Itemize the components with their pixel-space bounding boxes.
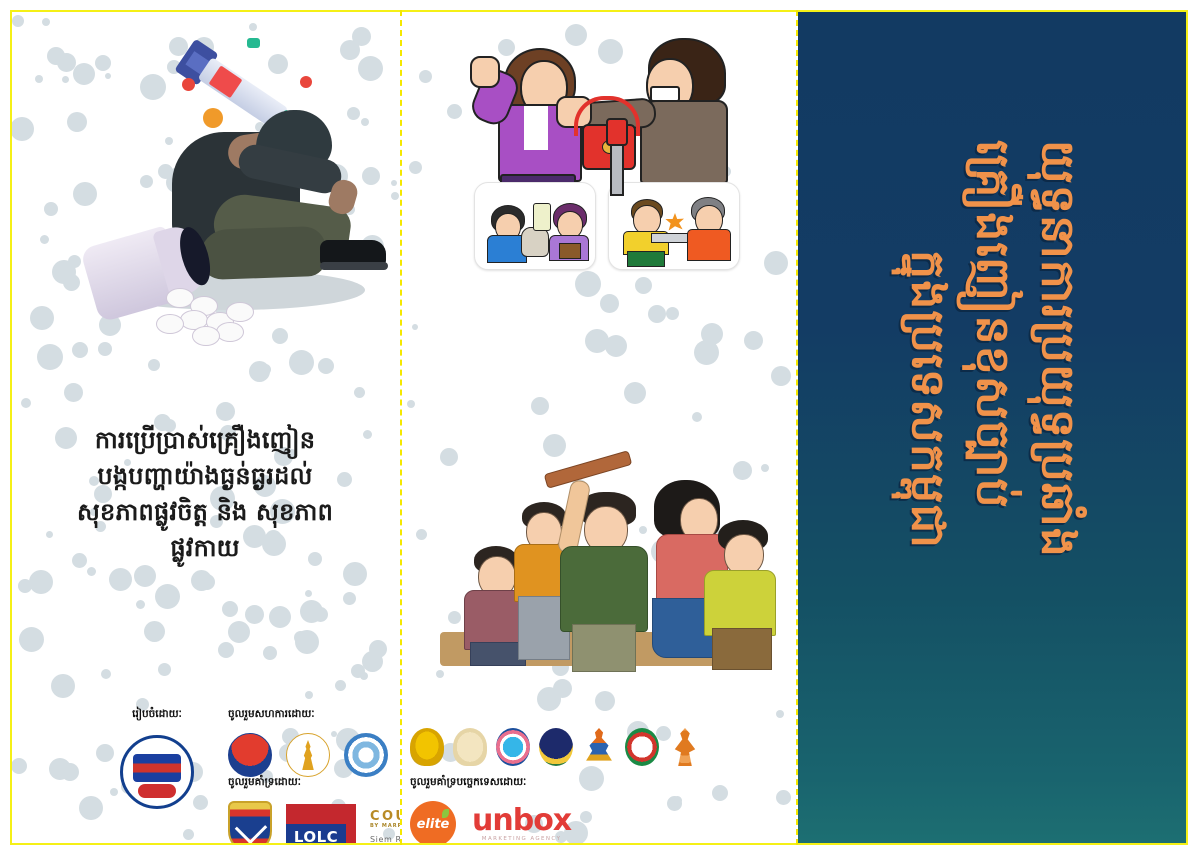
nacd-emblem-logo xyxy=(120,735,194,809)
technical-support-block: ចូលរួមគាំទ្របច្ចេកទេសដោយៈ elite unbox MA… xyxy=(410,776,571,845)
panel-left: ការប្រើប្រាស់គ្រឿងញៀន បង្កបញ្ហាយ៉ាងធ្ងន់… xyxy=(10,10,400,845)
cover-title-line: យុទ្ធនាការប្រយុទ្ធប្រឆាំង xyxy=(1028,140,1087,558)
supported-by-label: ចូលរួមគាំទ្រដោយៈ xyxy=(228,776,400,791)
partner-logo-1 xyxy=(228,733,272,777)
figure-robber xyxy=(622,38,752,198)
ministry-emblem-1 xyxy=(410,728,444,766)
ministry-emblem-row xyxy=(410,728,702,766)
partner-logo-2 xyxy=(286,733,330,777)
headline-line: ផ្លូវកាយ xyxy=(24,530,386,566)
ministry-emblem-3 xyxy=(496,728,530,766)
prepared-by-label: រៀបចំដោយៈ xyxy=(120,708,194,723)
sub-scene-card-assault xyxy=(608,182,740,270)
pill-icon xyxy=(300,76,312,88)
illustration-robbery-scene xyxy=(462,22,752,274)
panel-right-cover: យុទ្ធនាការប្រយុទ្ធប្រឆាំង គ្រឿងញៀនខុសច្ប… xyxy=(798,10,1188,845)
technical-support-label: ចូលរួមគាំទ្របច្ចេកទេសដោយៈ xyxy=(410,776,571,791)
prepared-by-block: រៀបចំដោយៈ xyxy=(120,708,194,809)
courtyard-subtitle: BY MARRIOTT xyxy=(370,824,400,830)
collaboration-block: ចូលរួមសហការដោយៈ xyxy=(228,708,388,777)
sub-scene-card-drug-deal xyxy=(474,182,596,270)
partner-logo-3 xyxy=(344,733,388,777)
knife-icon xyxy=(610,140,624,196)
illustration-youth-violence xyxy=(440,458,770,674)
pill-icon xyxy=(247,38,260,48)
fold-line-1 xyxy=(400,10,402,845)
ministry-emblem-7 xyxy=(668,728,702,766)
cover-title: យុទ្ធនាការប្រយុទ្ធប្រឆាំង គ្រឿងញៀនខុសច្ប… xyxy=(798,10,1188,845)
courtyard-resort-name: Siem Reap Resort xyxy=(370,836,400,845)
supported-by-block: ចូលរួមគាំទ្រដោយៈ COURTYARD BY MARRIOTT S… xyxy=(228,776,400,845)
elite-wordmark: elite xyxy=(417,817,450,832)
headline-line: ការប្រើប្រាស់គ្រឿងញៀន xyxy=(24,422,386,458)
headline-line: សុខភាពផ្លូវចិត្ត និង សុខភាព xyxy=(24,494,386,530)
unbox-tagline: MARKETING AGENCY xyxy=(472,837,571,843)
elite-logo: elite xyxy=(410,801,456,845)
panel-left-headline: ការប្រើប្រាស់គ្រឿងញៀន បង្កបញ្ហាយ៉ាងធ្ងន់… xyxy=(24,422,386,566)
ministry-emblem-4 xyxy=(539,728,573,766)
unbox-wordmark: unbox xyxy=(472,803,571,838)
courtyard-wordmark: COURTYARD xyxy=(370,809,400,824)
cover-title-line: ក្នុងប្រទេសកម្ពុជា xyxy=(899,250,958,549)
brochure-page: ការប្រើប្រាស់គ្រឿងញៀន បង្កបញ្ហាយ៉ាងធ្ងន់… xyxy=(0,0,1200,855)
fold-line-2 xyxy=(796,10,798,845)
panel-middle: ការប្រើប្រាស់គ្រឿងញៀន បង្កបញ្ហាយ៉ាងធ្ងន់… xyxy=(402,10,796,845)
illustration-drug-user xyxy=(40,20,380,410)
ministry-emblem-5 xyxy=(582,728,616,766)
cover-title-line: គ្រឿងញៀនខុសច្បាប់ xyxy=(964,140,1023,509)
lolc-logo xyxy=(286,804,356,845)
unbox-logo: unbox MARKETING AGENCY xyxy=(472,806,571,843)
drug-bag-icon xyxy=(521,227,549,257)
headline-line: បង្កបញ្ហាយ៉ាងធ្ងន់ធ្ងរដល់ xyxy=(24,458,386,494)
figure-boy-yellow xyxy=(702,520,786,670)
ministry-emblem-6 xyxy=(625,728,659,766)
courtyard-logo: COURTYARD BY MARRIOTT Siem Reap Resort xyxy=(370,810,400,845)
pill-icon xyxy=(182,78,195,91)
collaboration-label: ចូលរួមសហការដោយៈ xyxy=(228,708,388,723)
ministry-emblem-2 xyxy=(453,728,487,766)
sponsor-shield-logo xyxy=(228,801,272,845)
